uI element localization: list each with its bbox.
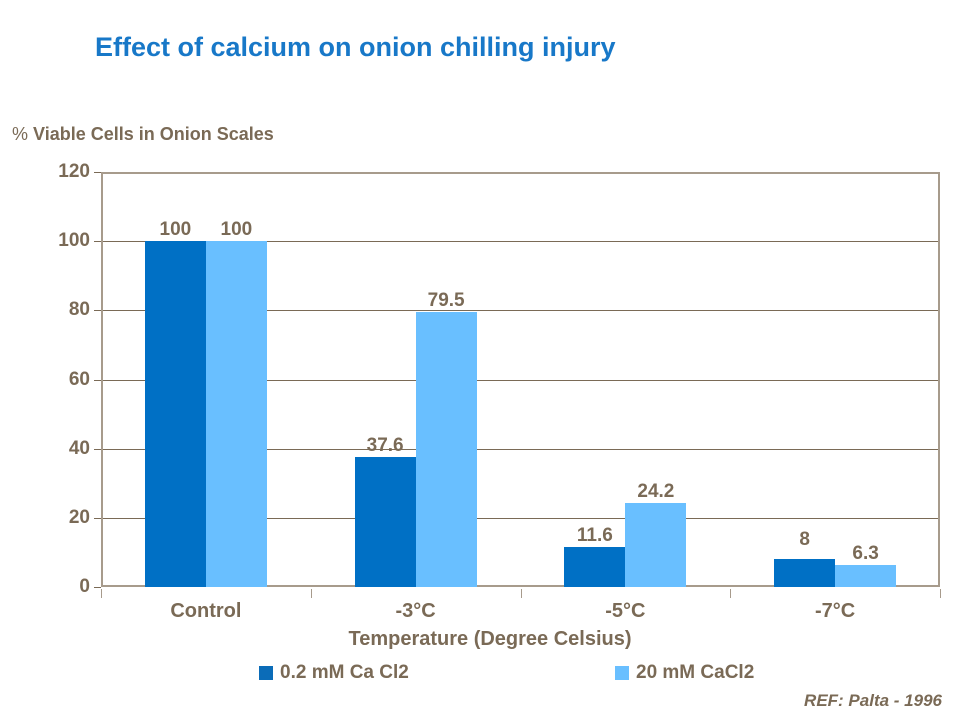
x-axis-tick-mark: [730, 589, 731, 598]
x-axis-tick-mark-end: [940, 589, 941, 598]
legend-swatch-icon-series-1: [615, 666, 629, 680]
x-axis-tick-label: -5°C: [605, 600, 645, 623]
x-axis-tick-label: -3°C: [396, 600, 436, 623]
y-axis-tick-label: 20: [20, 507, 90, 529]
x-axis-tick-label: Control: [170, 600, 241, 623]
legend-label-series-0: 0.2 mM Ca Cl2: [280, 662, 409, 684]
y-axis-tick-label: 0: [20, 576, 90, 598]
x-axis-title: Temperature (Degree Celsius): [0, 628, 960, 651]
legend-item-series-1[interactable]: 20 mM CaCl2: [615, 662, 754, 684]
y-axis-tick-label: 60: [20, 369, 90, 391]
y-axis-tick-mark: [94, 449, 101, 450]
y-axis-tick-mark: [94, 310, 101, 311]
y-axis-tick-label: 80: [20, 299, 90, 321]
y-axis-tick-label: 100: [20, 230, 90, 252]
y-axis-tick-mark: [94, 380, 101, 381]
chart-legend: 0.2 mM Ca Cl2 20 mM CaCl2: [0, 662, 960, 688]
y-axis-tick-mark: [94, 518, 101, 519]
y-axis-tick-mark: [94, 241, 101, 242]
reference-note: REF: Palta - 1996: [804, 691, 942, 711]
x-axis-tick-mark: [521, 589, 522, 598]
y-axis-tick-mark: [94, 587, 101, 588]
plot-frame: [101, 172, 940, 587]
legend-label-series-1: 20 mM CaCl2: [636, 662, 754, 684]
legend-item-series-0[interactable]: 0.2 mM Ca Cl2: [259, 662, 409, 684]
x-axis-tick-mark: [311, 589, 312, 598]
y-axis-tick-label: 40: [20, 438, 90, 460]
chart-title: Effect of calcium on onion chilling inju…: [95, 32, 616, 63]
legend-swatch-icon-series-0: [259, 666, 273, 680]
x-axis-tick-mark: [101, 589, 102, 598]
y-axis-tick-label: 120: [20, 161, 90, 183]
x-axis-tick-label: -7°C: [815, 600, 855, 623]
y-axis-tick-mark: [94, 172, 101, 173]
y-axis-tick-labels: 020406080100120: [16, 0, 90, 720]
